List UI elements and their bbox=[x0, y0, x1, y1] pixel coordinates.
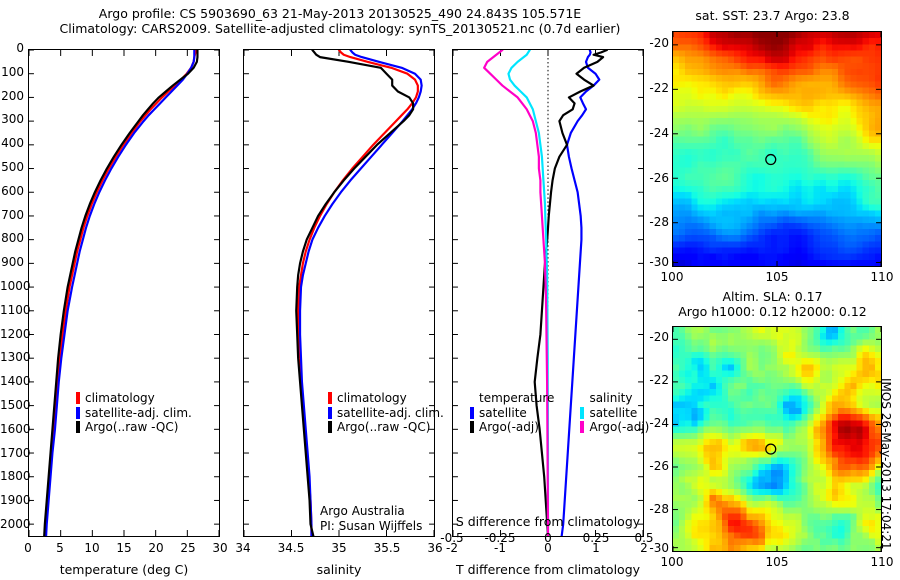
series-satellite-adj-clim- bbox=[300, 50, 422, 536]
axis-tick-label: 34 bbox=[223, 541, 263, 555]
legend-swatch bbox=[76, 392, 80, 404]
sst-map-raster bbox=[673, 32, 881, 266]
difference-legend-salinity-head: salinity bbox=[580, 391, 649, 406]
difference-legend-temperature-head: temperature bbox=[470, 391, 554, 406]
axis-tick-label: 600 bbox=[0, 184, 24, 198]
legend-swatch bbox=[328, 421, 332, 433]
panel-temperature bbox=[28, 49, 220, 537]
legend-swatch bbox=[76, 407, 80, 419]
axis-tick-label: -2 bbox=[436, 541, 468, 555]
axis-tick-label: -30 bbox=[639, 541, 669, 555]
axis-tick-label: 25 bbox=[172, 541, 204, 555]
axis-tick-label: 20 bbox=[140, 541, 172, 555]
difference-profile-plot bbox=[453, 50, 643, 536]
axis-tick-label: -26 bbox=[639, 171, 669, 185]
axis-tick-label: 110 bbox=[864, 270, 900, 284]
legend-label: Argo(..raw -QC) bbox=[337, 420, 430, 435]
legend-label: Argo(..raw -QC) bbox=[85, 420, 178, 435]
axis-tick-label: 800 bbox=[0, 231, 24, 245]
legend-label: Argo(-adj) bbox=[479, 420, 539, 435]
axis-tick-label: 400 bbox=[0, 136, 24, 150]
difference-temperature-axis-label: T difference from climatology bbox=[452, 562, 644, 577]
axis-tick-label: 15 bbox=[108, 541, 140, 555]
legend-item: satellite-adj. clim. bbox=[76, 406, 192, 421]
axis-tick-label: 700 bbox=[0, 208, 24, 222]
legend-swatch bbox=[470, 421, 474, 433]
legend-label: satellite bbox=[589, 406, 637, 421]
temperature-legend: climatologysatellite-adj. clim.Argo(..ra… bbox=[76, 391, 192, 435]
axis-tick-label: 500 bbox=[0, 160, 24, 174]
legend-label: climatology bbox=[85, 391, 155, 406]
series-argo-raw-qc- bbox=[44, 50, 197, 536]
salinity-legend: climatologysatellite-adj. clim.Argo(..ra… bbox=[328, 391, 444, 435]
axis-tick-label: -1 bbox=[484, 541, 516, 555]
axis-tick-label: -20 bbox=[639, 36, 669, 50]
attribution-program: Argo Australia bbox=[320, 504, 422, 519]
axis-tick-label: 100 bbox=[654, 270, 690, 284]
axis-tick-label: 5 bbox=[44, 541, 76, 555]
axis-tick-label: 0 bbox=[12, 541, 44, 555]
series-temperature-satellite bbox=[562, 50, 600, 536]
legend-item: Argo(-adj) bbox=[470, 420, 554, 435]
temperature-axis-label: temperature (deg C) bbox=[28, 562, 220, 577]
axis-tick-label: 100 bbox=[654, 555, 690, 569]
sla-map-title-line2: Argo h1000: 0.12 h2000: 0.12 bbox=[655, 304, 890, 319]
axis-tick-label: -30 bbox=[639, 255, 669, 269]
figure-title-line1: Argo profile: CS 5903690_63 21-May-2013 … bbox=[0, 6, 680, 21]
axis-tick-label: 300 bbox=[0, 112, 24, 126]
axis-tick-label: 1600 bbox=[0, 422, 24, 436]
axis-tick-label: 35 bbox=[319, 541, 359, 555]
difference-legend: temperature satelliteArgo(-adj) salinity… bbox=[470, 391, 649, 435]
series-salinity-argo-adj- bbox=[484, 50, 548, 536]
axis-tick-label: 2000 bbox=[0, 517, 24, 531]
legend-swatch bbox=[580, 407, 584, 419]
axis-tick-label: 1500 bbox=[0, 398, 24, 412]
axis-tick-label: -28 bbox=[639, 502, 669, 516]
axis-tick-label: 1200 bbox=[0, 327, 24, 341]
legend-label: satellite bbox=[479, 406, 527, 421]
difference-legend-temperature-col: temperature satelliteArgo(-adj) bbox=[470, 391, 554, 435]
legend-item: satellite bbox=[470, 406, 554, 421]
sst-map-title: sat. SST: 23.7 Argo: 23.8 bbox=[660, 8, 885, 23]
sst-map bbox=[672, 31, 882, 267]
legend-label: climatology bbox=[337, 391, 407, 406]
legend-item: Argo(..raw -QC) bbox=[328, 420, 444, 435]
sla-map bbox=[672, 326, 882, 552]
axis-tick-label: 35.5 bbox=[367, 541, 407, 555]
salinity-attribution: Argo Australia PI: Susan Wijffels bbox=[320, 504, 422, 533]
legend-swatch bbox=[76, 421, 80, 433]
axis-tick-label: 105 bbox=[759, 555, 795, 569]
axis-tick-label: 100 bbox=[0, 65, 24, 79]
axis-tick-label: -26 bbox=[639, 459, 669, 473]
axis-tick-label: 1000 bbox=[0, 279, 24, 293]
axis-tick-label: 34.5 bbox=[271, 541, 311, 555]
axis-tick-label: 1800 bbox=[0, 469, 24, 483]
axis-tick-label: 1700 bbox=[0, 446, 24, 460]
axis-tick-label: 0 bbox=[0, 41, 24, 55]
difference-salinity-axis-label: S difference from climatology bbox=[452, 514, 644, 529]
sla-map-raster bbox=[673, 327, 881, 551]
legend-swatch bbox=[328, 392, 332, 404]
salinity-axis-label: salinity bbox=[243, 562, 435, 577]
panel-salinity bbox=[243, 49, 435, 537]
axis-tick-label: 1300 bbox=[0, 350, 24, 364]
axis-tick-label: -24 bbox=[639, 126, 669, 140]
axis-tick-label: 1 bbox=[580, 541, 612, 555]
axis-tick-label: 105 bbox=[759, 270, 795, 284]
legend-label: satellite-adj. clim. bbox=[337, 406, 444, 421]
legend-swatch bbox=[470, 407, 474, 419]
temperature-profile-plot bbox=[29, 50, 219, 536]
axis-tick-label: 110 bbox=[864, 555, 900, 569]
legend-item: Argo(..raw -QC) bbox=[76, 420, 192, 435]
axis-tick-label: 0 bbox=[532, 541, 564, 555]
legend-swatch bbox=[328, 407, 332, 419]
axis-tick-label: 1400 bbox=[0, 374, 24, 388]
axis-tick-label: -28 bbox=[639, 215, 669, 229]
legend-item: climatology bbox=[76, 391, 192, 406]
panel-difference bbox=[452, 49, 644, 537]
axis-tick-label: 1900 bbox=[0, 493, 24, 507]
axis-tick-label: -20 bbox=[639, 330, 669, 344]
legend-item: climatology bbox=[328, 391, 444, 406]
axis-tick-label: 900 bbox=[0, 255, 24, 269]
axis-tick-label: 10 bbox=[76, 541, 108, 555]
axis-tick-label: -22 bbox=[639, 373, 669, 387]
legend-item: satellite-adj. clim. bbox=[328, 406, 444, 421]
axis-tick-label: -22 bbox=[639, 81, 669, 95]
imos-timestamp: IMOS 26-May-2013 17:04:21 bbox=[879, 378, 893, 550]
axis-tick-label: 1100 bbox=[0, 303, 24, 317]
salinity-profile-plot bbox=[244, 50, 434, 536]
axis-tick-label: 200 bbox=[0, 89, 24, 103]
sla-map-title-line1: Altim. SLA: 0.17 bbox=[660, 289, 885, 304]
attribution-pi: PI: Susan Wijffels bbox=[320, 519, 422, 534]
axis-tick-label: -24 bbox=[639, 416, 669, 430]
legend-label: satellite-adj. clim. bbox=[85, 406, 192, 421]
figure-title-line2: Climatology: CARS2009. Satellite-adjuste… bbox=[0, 21, 680, 36]
legend-swatch bbox=[580, 421, 584, 433]
